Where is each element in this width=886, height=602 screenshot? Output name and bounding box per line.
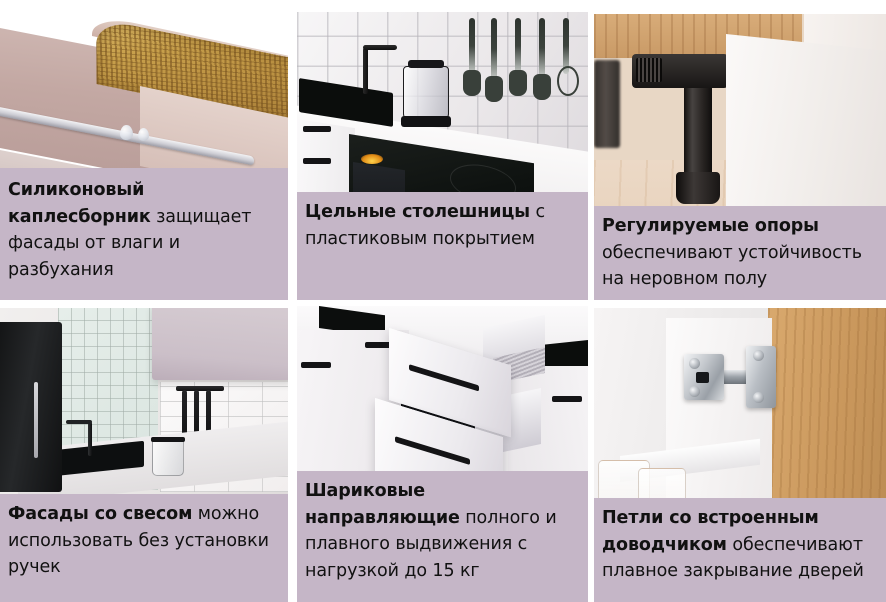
feature-caption-adjustable-legs: Регулируемые опоры обеспечивают устойчив… (594, 206, 886, 300)
feature-caption-bold: Фасады со свесом (8, 504, 192, 524)
feature-caption-solid-countertops: Цельные столешницы с пластиковым покрыти… (297, 192, 588, 300)
feature-card-overhang-facades[interactable]: Фасады со свесом можно использовать без … (0, 308, 288, 602)
feature-card-ball-bearing-slides[interactable]: Шариковые направляющие полного и плавног… (297, 306, 588, 602)
feature-caption-bold: Шариковые направляющие (305, 481, 460, 528)
feature-card-silicone-drip-catcher[interactable]: Силиконовый каплесборник защищает фасады… (0, 0, 288, 300)
feature-caption-overhang-facades: Фасады со свесом можно использовать без … (0, 494, 288, 602)
feature-caption-bold: Силиконовый каплесборник (8, 180, 151, 227)
feature-card-solid-countertops[interactable]: Цельные столешницы с пластиковым покрыти… (297, 12, 588, 300)
feature-card-soft-close-hinges[interactable]: Петли со встроенным доводчиком обеспечив… (594, 308, 886, 602)
feature-caption-ball-bearing-slides: Шариковые направляющие полного и плавног… (297, 471, 588, 602)
feature-caption-silicone-drip-catcher: Силиконовый каплесборник защищает фасады… (0, 168, 288, 300)
feature-caption-bold: Регулируемые опоры (602, 216, 819, 236)
feature-grid: Силиконовый каплесборник защищает фасады… (0, 0, 886, 602)
feature-caption-soft-close-hinges: Петли со встроенным доводчиком обеспечив… (594, 498, 886, 602)
feature-caption-regular: обеспечивают устойчивость на неровном по… (602, 243, 862, 290)
feature-card-adjustable-legs[interactable]: Регулируемые опоры обеспечивают устойчив… (594, 14, 886, 300)
feature-caption-bold: Цельные столешницы (305, 202, 530, 222)
